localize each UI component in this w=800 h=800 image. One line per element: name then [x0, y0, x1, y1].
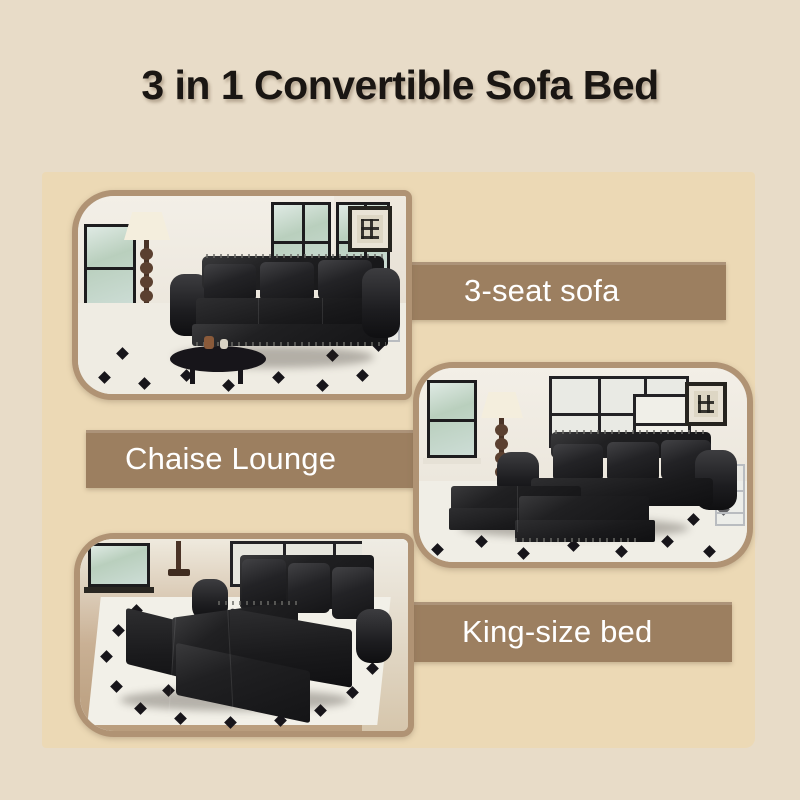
page-title: 3 in 1 Convertible Sofa Bed: [0, 62, 800, 109]
feature-photo-sofa: [72, 190, 412, 400]
feature-label-bar-bed: King-size bed: [405, 602, 732, 662]
feature-photo-bed: [74, 533, 414, 737]
feature-label-bed: King-size bed: [462, 614, 652, 650]
feature-label-bar-sofa: 3-seat sofa: [397, 262, 726, 320]
photo-scene-sofa: [78, 196, 406, 394]
feature-label-chaise: Chaise Lounge: [125, 441, 336, 477]
photo-scene-bed: [80, 539, 408, 731]
feature-label-bar-chaise: Chaise Lounge: [86, 430, 416, 488]
photo-scene-chaise: [419, 368, 747, 562]
feature-label-sofa: 3-seat sofa: [464, 273, 620, 309]
feature-photo-chaise: [413, 362, 753, 568]
infographic-canvas: 3 in 1 Convertible Sofa Bed 3-seat sofa …: [0, 0, 800, 800]
